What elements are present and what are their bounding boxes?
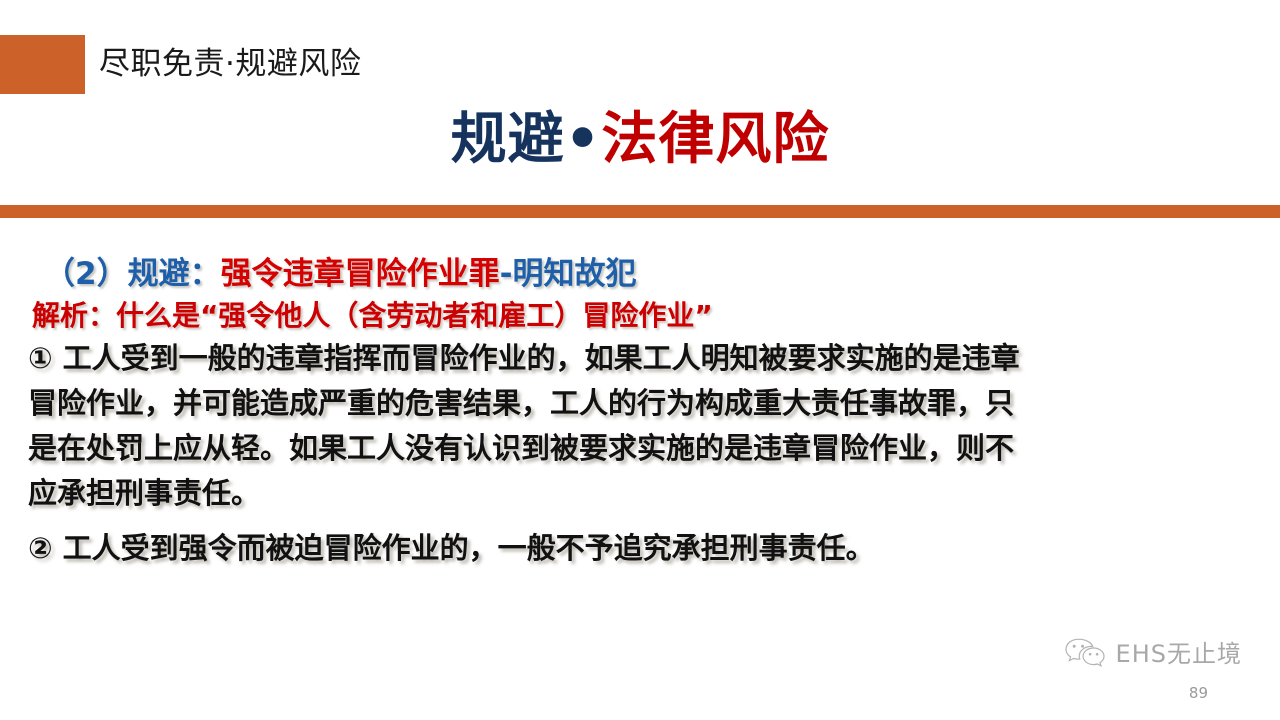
section-divider bbox=[0, 205, 1280, 218]
content-paragraph-line: ② 工人受到强令而被迫冒险作业的，一般不予追究承担刑事责任。 bbox=[0, 526, 1280, 571]
header-accent-square bbox=[0, 35, 85, 94]
content-paragraph-line: 应承担刑事责任。 bbox=[0, 471, 1280, 516]
content-heading-secondary: 解析：什么是“强令他人（含劳动者和雇工）冒险作业” bbox=[0, 296, 1280, 336]
content-body: （2）规避：强令违章冒险作业罪-明知故犯 解析：什么是“强令他人（含劳动者和雇工… bbox=[0, 252, 1280, 571]
page-number: 89 bbox=[1189, 684, 1208, 702]
page-title-separator-dot: • bbox=[565, 107, 602, 172]
wechat-icon bbox=[1063, 636, 1107, 672]
page-title: 规避•法律风险 bbox=[0, 104, 1280, 176]
page-title-blue-part: 规避 bbox=[451, 107, 565, 172]
content-paragraph-line: 冒险作业，并可能造成严重的危害结果，工人的行为构成重大责任事故罪，只 bbox=[0, 381, 1280, 426]
content-heading-primary: （2）规避：强令违章冒险作业罪-明知故犯 bbox=[0, 252, 1280, 296]
heading-prefix: （2）规避： bbox=[44, 256, 221, 292]
content-paragraph-line: 是在处罚上应从轻。如果工人没有认识到被要求实施的是违章冒险作业，则不 bbox=[0, 426, 1280, 471]
page-title-red-part: 法律风险 bbox=[601, 107, 829, 172]
content-paragraph-line: ① 工人受到一般的违章指挥而冒险作业的，如果工人明知被要求实施的是违章 bbox=[0, 336, 1280, 381]
watermark-text: EHS无止境 bbox=[1116, 641, 1242, 667]
watermark: EHS无止境 bbox=[1063, 636, 1242, 672]
heading-emphasis: 强令违章冒险作业罪 bbox=[221, 256, 500, 292]
header-title: 尽职免责·规避风险 bbox=[99, 40, 361, 88]
heading-suffix: -明知故犯 bbox=[500, 256, 637, 292]
slide-canvas: 尽职免责·规避风险 规避•法律风险 （2）规避：强令违章冒险作业罪-明知故犯 解… bbox=[0, 0, 1280, 720]
